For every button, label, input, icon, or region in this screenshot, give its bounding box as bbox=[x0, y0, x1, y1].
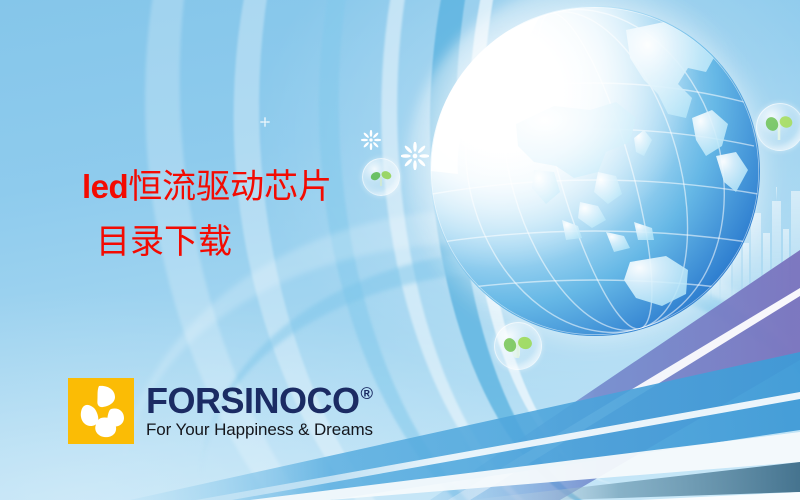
ribbon-steel-band bbox=[470, 462, 800, 500]
swoosh-arc-6 bbox=[468, 0, 782, 485]
globe-sphere bbox=[430, 6, 760, 336]
logo-text-block: FORSINOCO® For Your Happiness & Dreams bbox=[146, 383, 373, 440]
logo-brand-name: FORSINOCO bbox=[146, 383, 360, 418]
green-sprout-icon bbox=[757, 104, 800, 150]
ribbon-corner-white bbox=[640, 492, 800, 500]
logo-wordmark: FORSINOCO® bbox=[146, 383, 373, 418]
ribbon-white-thin-upper bbox=[448, 288, 800, 500]
sparkle-flower-2-icon bbox=[401, 142, 429, 170]
green-sprout-icon bbox=[363, 159, 399, 195]
promo-banner: led恒流驱动芯片 目录下载 FORSINOCO® For Your Happi… bbox=[0, 0, 800, 500]
ribbon-violet-band bbox=[430, 250, 800, 500]
headline: led恒流驱动芯片 目录下载 bbox=[82, 160, 332, 270]
swoosh-arc-5 bbox=[423, 0, 800, 500]
four-petal-flower-icon bbox=[68, 378, 134, 444]
headline-cjk-line-1: 恒流驱动芯片 bbox=[128, 167, 332, 207]
headline-line-1: led恒流驱动芯片 bbox=[82, 160, 332, 215]
headline-line-2: 目录下载 bbox=[82, 215, 332, 270]
green-sprout-icon bbox=[495, 323, 541, 369]
swoosh-arc-4 bbox=[361, 0, 800, 500]
headline-latin-led: led bbox=[82, 168, 128, 205]
globe-surface-detail-icon bbox=[430, 6, 760, 336]
sparkle-flower-3-icon bbox=[260, 117, 270, 127]
logo-mark bbox=[68, 378, 134, 444]
bubble-sprout-center bbox=[494, 322, 542, 370]
bubble-sprout-right bbox=[756, 103, 800, 151]
city-skyline-silhouette-icon bbox=[680, 185, 800, 300]
bubble-sprout-left bbox=[362, 158, 400, 196]
brand-logo: FORSINOCO® For Your Happiness & Dreams bbox=[68, 378, 373, 444]
globe-outer-glow bbox=[406, 0, 784, 360]
globe-artwork bbox=[430, 6, 760, 336]
logo-tagline: For Your Happiness & Dreams bbox=[146, 420, 373, 440]
swoosh-arc-lower-2 bbox=[188, 233, 800, 500]
registered-trademark-icon: ® bbox=[361, 385, 373, 402]
sparkle-flower-1-icon bbox=[361, 130, 381, 150]
